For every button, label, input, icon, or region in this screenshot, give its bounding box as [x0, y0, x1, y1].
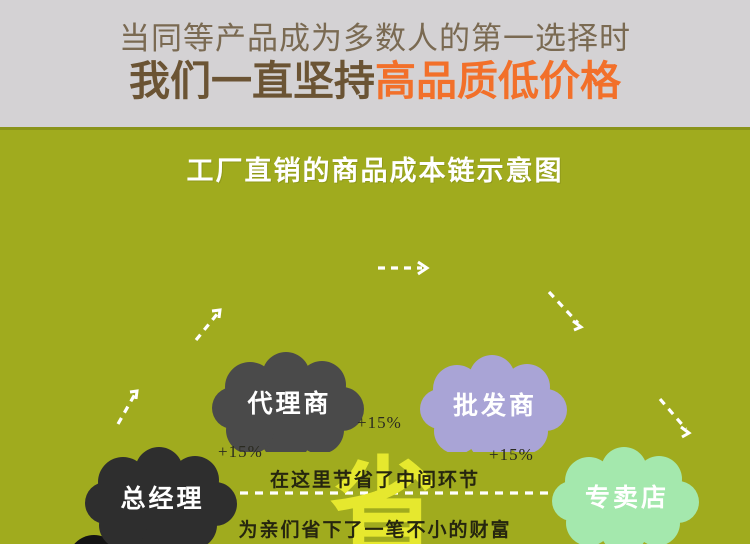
header-tagline-line1: 当同等产品成为多数人的第一选择时 [119, 23, 631, 56]
node-specialty-store-label: 专卖店 [585, 478, 669, 514]
header-tagline-line2-accent: 高品质低价格 [375, 58, 621, 104]
footer-line2: 为亲们省下了一笔不小的财富 [0, 515, 750, 542]
header-section: 当同等产品成为多数人的第一选择时 我们一直坚持高品质低价格 [0, 0, 750, 127]
header-tagline-line2: 我们一直坚持高品质低价格 [129, 59, 621, 104]
node-agent-label: 代理商 [247, 384, 331, 420]
node-wholesaler-label: 批发商 [453, 386, 537, 422]
header-tagline-line2-dark: 我们一直坚持 [129, 58, 375, 104]
promo-banner: 当同等产品成为多数人的第一选择时 我们一直坚持高品质低价格 工厂直销的商品成本链… [0, 0, 750, 544]
cost-chain-panel: 工厂直销的商品成本链示意图 [0, 127, 750, 544]
node-general-manager-label: 总经理 [120, 479, 204, 515]
